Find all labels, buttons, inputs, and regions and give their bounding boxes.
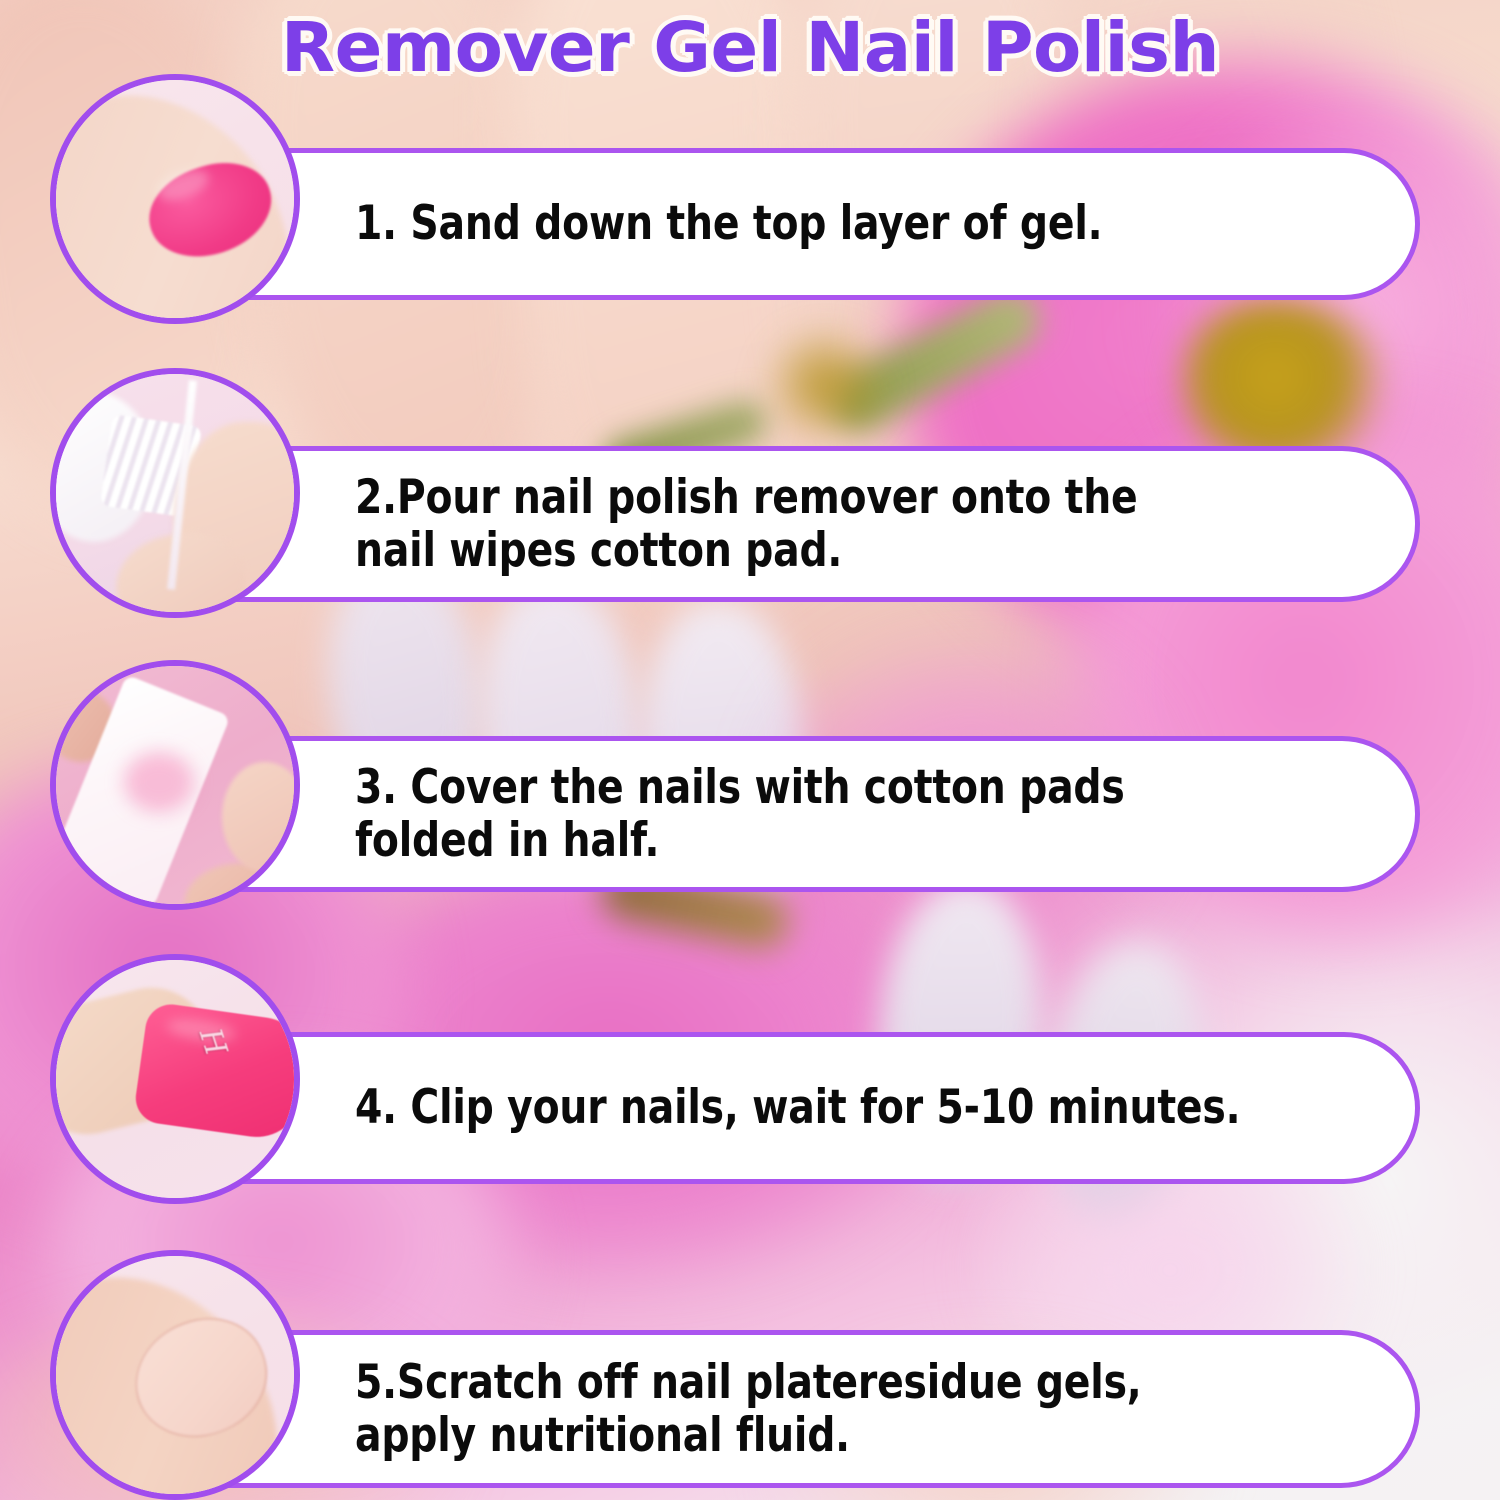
thumbnail-image-folded-cotton-pad-in-fingers [56, 666, 294, 904]
step-text-3: 3. Cover the nails with cotton pads fold… [355, 761, 1125, 867]
step-thumbnail-2: pouring-remover-onto-cotton-pad [50, 368, 300, 618]
step-thumbnail-4: H pink-nail-clip-on-finger [50, 954, 300, 1204]
step-row-5: 5.Scratch off nail plateresidue gels, ap… [110, 1330, 1420, 1488]
thumbnail-image-pouring-remover-onto-cotton-pad [56, 374, 294, 612]
step-text-2: 2.Pour nail polish remover onto the nail… [355, 471, 1138, 577]
step-text-4: 4. Clip your nails, wait for 5-10 minute… [355, 1081, 1240, 1134]
step-row-3: 3. Cover the nails with cotton pads fold… [110, 736, 1420, 892]
step-text-5: 5.Scratch off nail plateresidue gels, ap… [355, 1356, 1142, 1462]
step-row-4: 4. Clip your nails, wait for 5-10 minute… [110, 1032, 1420, 1184]
step-thumbnail-5: bare-natural-nail [50, 1250, 300, 1500]
step-text-1: 1. Sand down the top layer of gel. [355, 197, 1102, 250]
step-thumbnail-1: finger-with-pink-gel-polish [50, 74, 300, 324]
steps-list: 1. Sand down the top layer of gel. 2.Pou… [0, 0, 1500, 1500]
thumbnail-image-bare-natural-nail [56, 1256, 294, 1494]
thumbnail-image-pink-nail-clip-on-finger: H [56, 960, 294, 1198]
infographic-stage: Remover Gel Nail Polish 1. Sand down the… [0, 0, 1500, 1500]
step-thumbnail-3: folded-cotton-pad-in-fingers [50, 660, 300, 910]
thumbnail-image-finger-with-pink-gel-polish [56, 80, 294, 318]
step-row-2: 2.Pour nail polish remover onto the nail… [110, 446, 1420, 602]
step-row-1: 1. Sand down the top layer of gel. [110, 148, 1420, 300]
